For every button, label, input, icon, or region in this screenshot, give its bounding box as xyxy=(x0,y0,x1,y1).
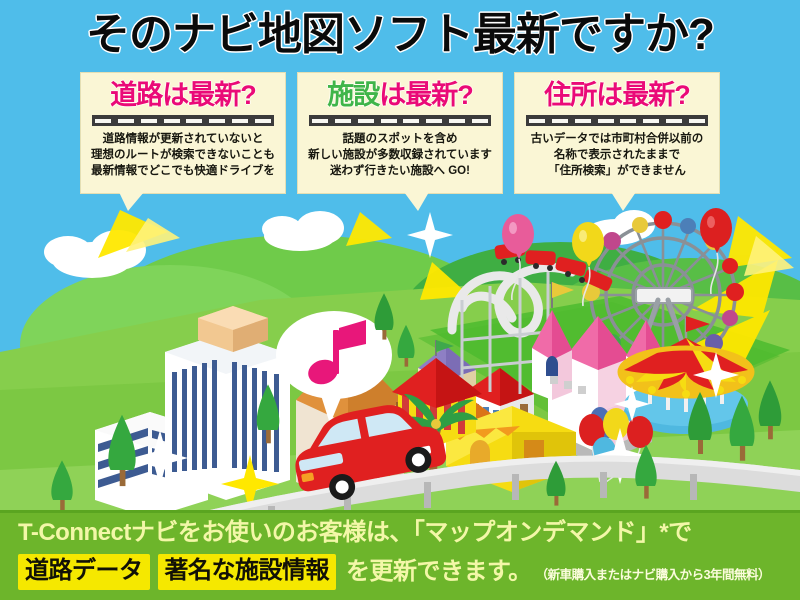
callout-road-title-rest: は最新? xyxy=(162,80,256,110)
callout-road-body-line1: 道路情報が更新されていないと xyxy=(87,131,279,147)
callout-facility-body-line2: 新しい施設が多数収録されています xyxy=(304,147,496,163)
banner-headline: T-Connectナビをお使いのお客様は、「マップオンデマンド」*で xyxy=(18,518,692,548)
road-divider-icon xyxy=(309,115,491,126)
banner-tail-text: を更新できます。 xyxy=(346,556,532,588)
callout-facility-title-main: 施設 xyxy=(327,80,379,110)
callout-facility-title: 施設は最新? xyxy=(304,79,496,111)
callout-facility-tail xyxy=(404,192,429,211)
callout-facility-body-line1: 話題のスポットを含め xyxy=(304,131,496,147)
promo-banner: T-Connectナビをお使いのお客様は、「マップオンデマンド」*で 道路データ… xyxy=(0,510,800,600)
road-divider-icon xyxy=(526,115,708,126)
callout-road: 道路は最新? 道路情報が更新されていないと 理想のルートが検索できないことも 最… xyxy=(80,72,286,194)
callout-address-body-line3: 「住所検索」ができません xyxy=(521,163,713,179)
callout-address-body-line1: 古いデータでは市町村合併以前の xyxy=(521,131,713,147)
callout-road-tail xyxy=(119,192,144,211)
callout-road-body-line2: 理想のルートが検索できないことも xyxy=(87,147,279,163)
callout-address-tail xyxy=(611,192,636,211)
road-divider-icon xyxy=(92,115,274,126)
poster-root: そのナビ地図ソフト最新ですか? 道路は最新? 道路情報が更新されていないと 理想… xyxy=(0,0,800,600)
callout-address-body-line2: 名称で表示されたままで xyxy=(521,147,713,163)
callout-road-title: 道路は最新? xyxy=(87,79,279,111)
badge-road-data: 道路データ xyxy=(18,554,150,590)
callout-address-title: 住所は最新? xyxy=(521,79,713,111)
callout-facility-body-line3: 迷わず行きたい施設へ GO! xyxy=(304,163,496,179)
callout-address: 住所は最新? 古いデータでは市町村合併以前の 名称で表示されたままで 「住所検索… xyxy=(514,72,720,194)
page-title: そのナビ地図ソフト最新ですか? xyxy=(0,6,800,64)
callout-address-title-rest: は最新? xyxy=(596,80,690,110)
badge-facility-info: 著名な施設情報 xyxy=(158,554,337,590)
banner-footnote: （新車購入またはナビ購入から3年間無料） xyxy=(536,559,770,591)
callout-road-body-line3: 最新情報でどこでも快適ドライブを xyxy=(87,163,279,179)
callout-facility: 施設は最新? 話題のスポットを含め 新しい施設が多数収録されています 迷わず行き… xyxy=(297,72,503,194)
banner-subline: 道路データ 著名な施設情報 を更新できます。 （新車購入またはナビ購入から3年間… xyxy=(18,554,770,590)
callout-road-title-main: 道路 xyxy=(110,80,162,110)
callout-facility-title-rest: は最新? xyxy=(379,80,473,110)
callout-group: 道路は最新? 道路情報が更新されていないと 理想のルートが検索できないことも 最… xyxy=(0,72,800,222)
callout-address-title-main: 住所 xyxy=(544,80,596,110)
